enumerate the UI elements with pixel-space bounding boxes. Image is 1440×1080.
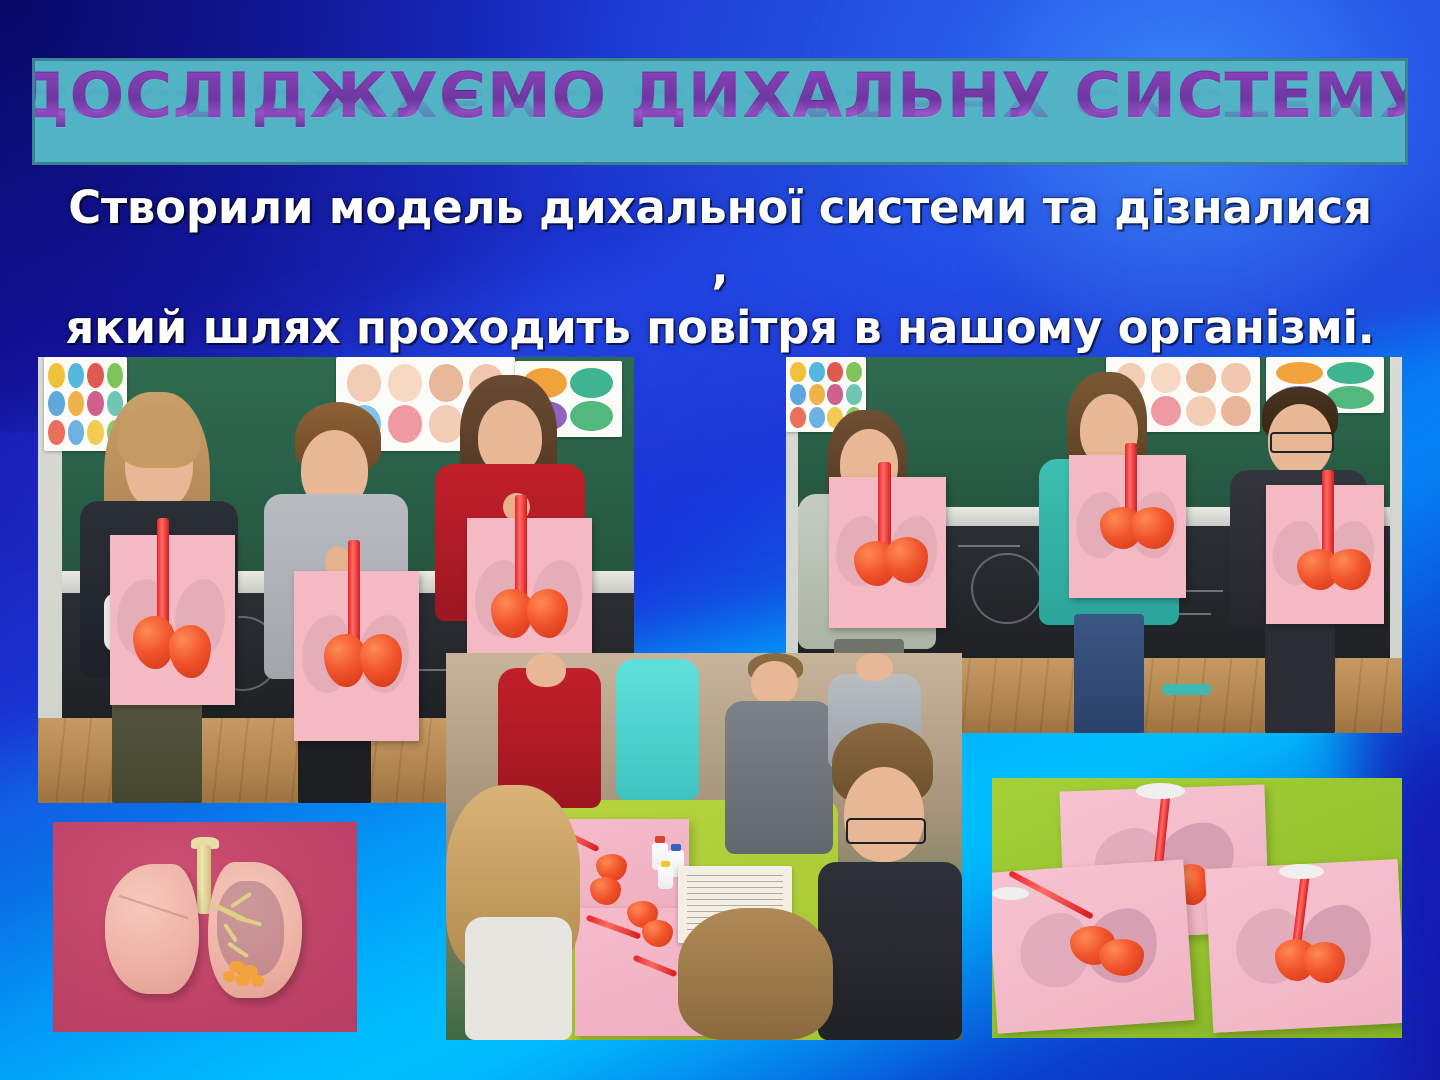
- child-3-teal-sweater: [616, 653, 699, 800]
- photo-lungs-anatomy-diagram: [53, 822, 357, 1032]
- title-wrap: ДОСЛІДЖУЄМО ДИХАЛЬНУ СИСТЕМУ ДОСЛІДЖУЄМО…: [35, 65, 1405, 127]
- glue-bottle-1-cap: [655, 836, 664, 844]
- child-3-teal-body: [616, 659, 699, 800]
- child-3-back-right-head: [856, 653, 893, 681]
- child-3-blonde-front-left: [446, 785, 580, 1040]
- glue-bottle-3: [658, 866, 673, 889]
- child-3-brown-front-center: [678, 908, 833, 1040]
- photo-finished-lung-models: [992, 778, 1402, 1038]
- child-2-right-trousers: [1265, 619, 1335, 733]
- child-3-red-head: [526, 653, 565, 687]
- alveoli-cluster-3: [235, 973, 250, 986]
- chalk-word-line-1: [958, 545, 1020, 547]
- page-title: ДОСЛІДЖУЄМО ДИХАЛЬНУ СИСТЕМУ: [32, 65, 1408, 127]
- subtitle-text: Створили модель дихальної системи та діз…: [60, 178, 1380, 358]
- pencil-case-on-floor: [1162, 684, 1211, 695]
- table-balloon-2: [590, 877, 621, 904]
- child-3-glasses-body: [818, 862, 962, 1040]
- lung-left-lobe: [105, 864, 199, 994]
- child-2-center-jeans: [1074, 614, 1144, 733]
- child-3-glasses-boy-right: [818, 723, 962, 1040]
- photo-group-around-table: [446, 653, 962, 1040]
- photo-5-scene: [53, 822, 357, 1032]
- alveoli-cluster-4: [251, 975, 265, 987]
- trachea: [197, 845, 210, 914]
- glue-bottle-2-cap: [671, 844, 681, 850]
- lung-model-sheet-left: [110, 535, 235, 704]
- child-3-blonde-body: [465, 917, 572, 1040]
- glue-bottle-3-cap: [661, 861, 670, 867]
- slide-root: ДОСЛІДЖУЄМО ДИХАЛЬНУ СИСТЕМУ ДОСЛІДЖУЄМО…: [0, 0, 1440, 1080]
- title-banner: ДОСЛІДЖУЄМО ДИХАЛЬНУ СИСТЕМУ ДОСЛІДЖУЄМО…: [32, 58, 1408, 165]
- child-3-glasses-head: [844, 767, 925, 862]
- child-3-grey-head: [751, 661, 799, 705]
- subtitle-line-1: Створили модель дихальної системи та діз…: [60, 178, 1380, 298]
- subtitle-line-2: який шлях проходить повітря в нашому орг…: [60, 298, 1380, 358]
- chalk-drawing-circle-2: [971, 553, 1043, 625]
- child-3-brown-hair: [678, 908, 833, 1040]
- model-top-mouthpiece: [1136, 783, 1185, 799]
- child-left-fringe: [118, 405, 199, 468]
- glasses-icon: [1270, 432, 1335, 453]
- glasses-icon-3: [846, 818, 925, 844]
- photo-4-scene: [992, 778, 1402, 1038]
- alveoli-cluster-5: [223, 971, 235, 982]
- photo-3-scene: [446, 653, 962, 1040]
